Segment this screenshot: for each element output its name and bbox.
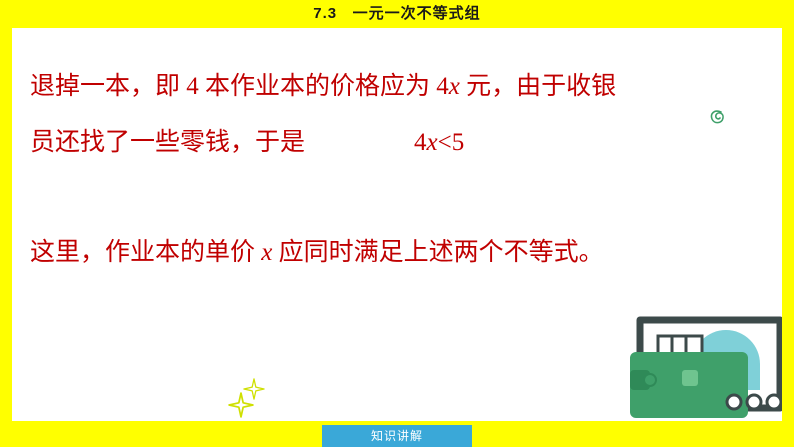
body-line-1: 退掉一本，即 4 本作业本的价格应为 4x 元，由于收银 [30,64,616,110]
line3-before-variable: 这里，作业本的单价 [30,239,261,266]
line1-before-number: 退掉一本，即 [30,73,186,100]
body-line-3: 这里，作业本的单价 x 应同时满足上述两个不等式。 [30,230,604,276]
inequality-operator: < [438,129,452,156]
title-gap [337,5,353,22]
line1-variable: x [449,73,460,100]
line2-text: 员还找了一些零钱，于是 [30,129,305,156]
line3-variable: x [261,239,272,266]
line1-middle: 本作业本的价格应为 [199,73,437,100]
frame-right-bar [782,0,794,447]
inequality-expression: 4x<5 [414,120,464,166]
line1-number: 4 [186,73,199,100]
line1-coefficient: 4 [436,73,449,100]
line3-after-variable: 应同时满足上述两个不等式。 [272,239,603,266]
inequality-variable: x [427,129,438,156]
section-title: 一元一次不等式组 [353,5,481,22]
line1-after: 元，由于收银 [460,73,616,100]
footer-tab[interactable]: 知识讲解 [322,425,472,447]
wallet-icon [630,312,782,420]
inequality-coefficient: 4 [414,129,427,156]
footer-tab-label: 知识讲解 [371,429,423,443]
spiral-icon [705,105,729,129]
inequality-value: 5 [452,129,465,156]
slide-root: 7.3 一元一次不等式组 退掉一本，即 4 本作业本的价格应为 4x 元，由于收… [0,0,794,447]
page-title: 7.3 一元一次不等式组 [0,1,794,27]
body-line-2: 员还找了一些零钱，于是 [30,120,305,166]
section-number: 7.3 [313,5,337,22]
frame-left-bar [0,0,12,447]
sparkle-icon [228,392,254,418]
